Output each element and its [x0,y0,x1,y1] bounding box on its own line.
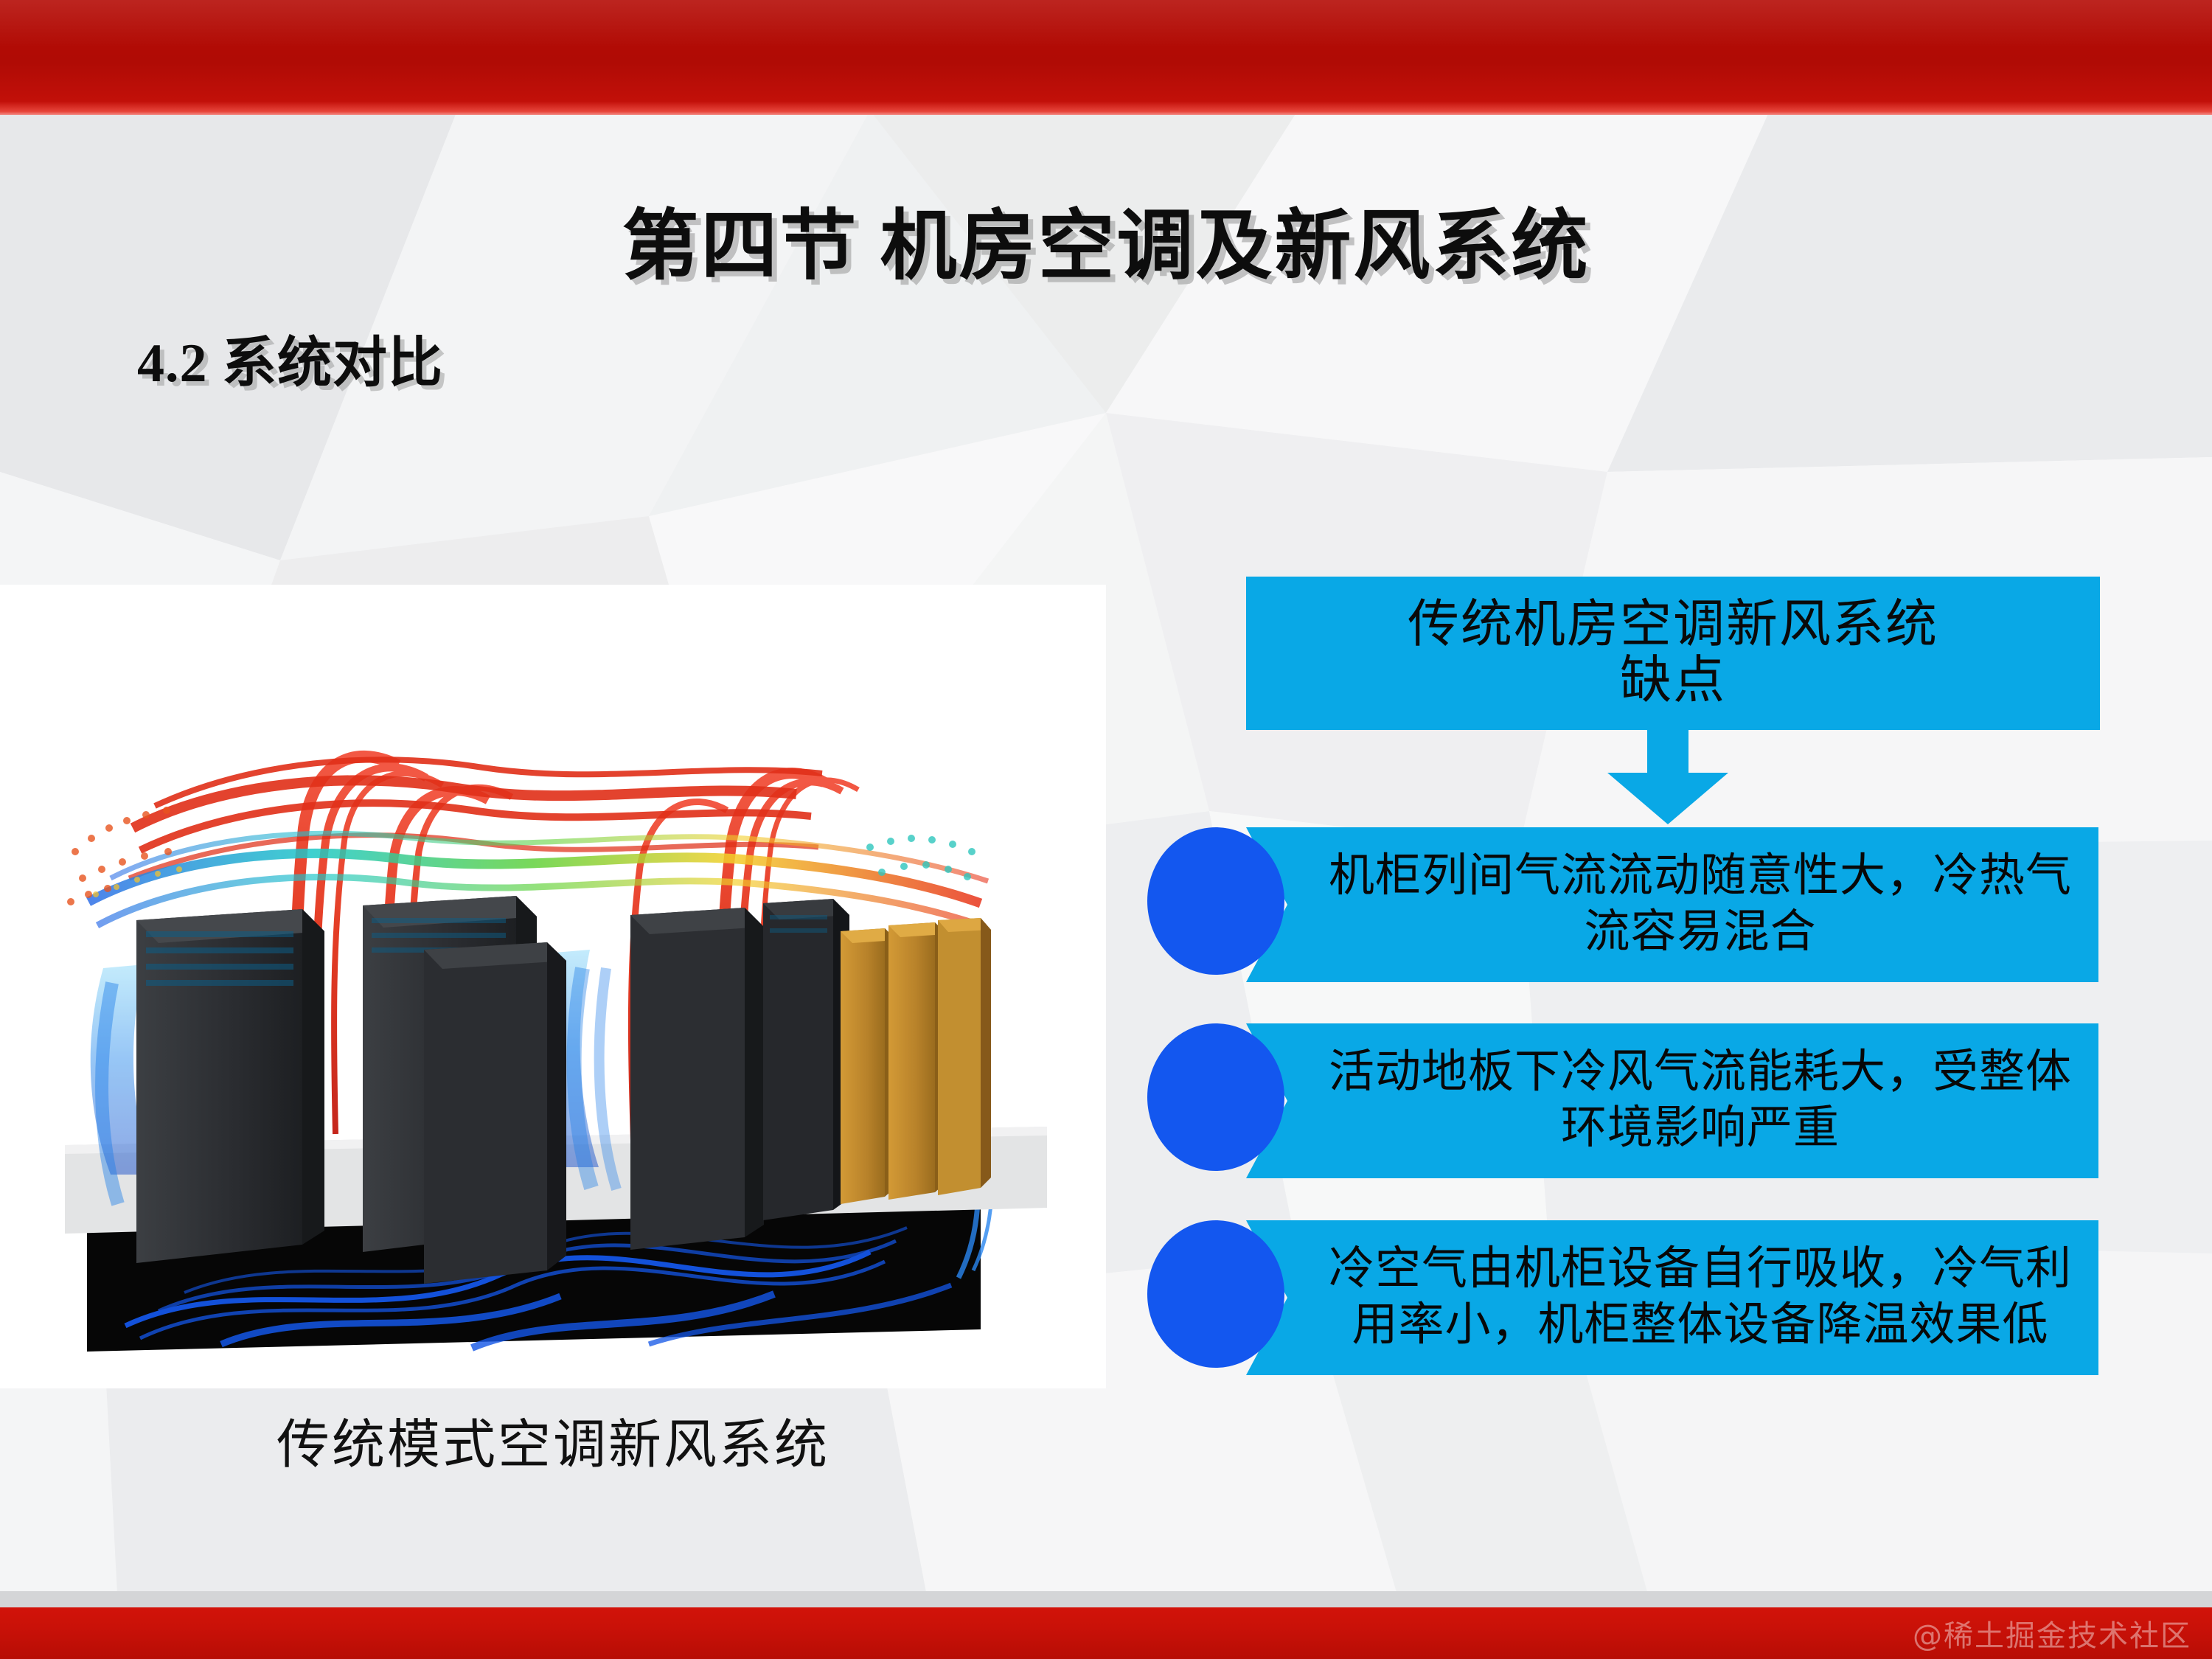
disadvantage-item-2: 活动地板下冷风气流能耗大，受整体环境影响严重 [1147,1023,2098,1178]
top-red-band [0,0,2212,115]
disadvantage-text-2: 活动地板下冷风气流能耗大，受整体环境影响严重 [1306,1023,2095,1178]
panel-header-line-1: 传统机房空调新风系统 [1408,597,1938,653]
bullet-circle-marker [1147,1220,1284,1368]
section-subtitle: 4.2 系统对比 [137,319,443,397]
page-title: 第四节 机房空调及新风系统 [0,183,2212,294]
bottom-gray-strip [0,1591,2212,1607]
figure-caption: 传统模式空调新风系统 [0,1401,1106,1478]
panel-header-box: 传统机房空调新风系统 缺点 [1246,577,2100,730]
down-arrow-icon [1601,728,1734,824]
disadvantage-item-3: 冷空气由机柜设备自行吸收，冷气利用率小，机柜整体设备降温效果低 [1147,1220,2098,1375]
bottom-red-band [0,1607,2212,1659]
bullet-circle-marker [1147,1023,1284,1171]
disadvantage-item-1: 机柜列间气流流动随意性大，冷热气流容易混合 [1147,827,2098,982]
top-band-gloss [0,0,2212,47]
disadvantage-text-1: 机柜列间气流流动随意性大，冷热气流容易混合 [1306,827,2095,982]
disadvantage-text-3: 冷空气由机柜设备自行吸收，冷气利用率小，机柜整体设备降温效果低 [1306,1220,2095,1375]
panel-header-line-2: 缺点 [1620,653,1726,709]
cfd-simulation-image [0,585,1106,1388]
watermark-text: @稀土掘金技术社区 [1913,1612,2191,1655]
slide-canvas: 第四节 机房空调及新风系统 4.2 系统对比 [0,0,2212,1659]
bullet-circle-marker [1147,827,1284,975]
